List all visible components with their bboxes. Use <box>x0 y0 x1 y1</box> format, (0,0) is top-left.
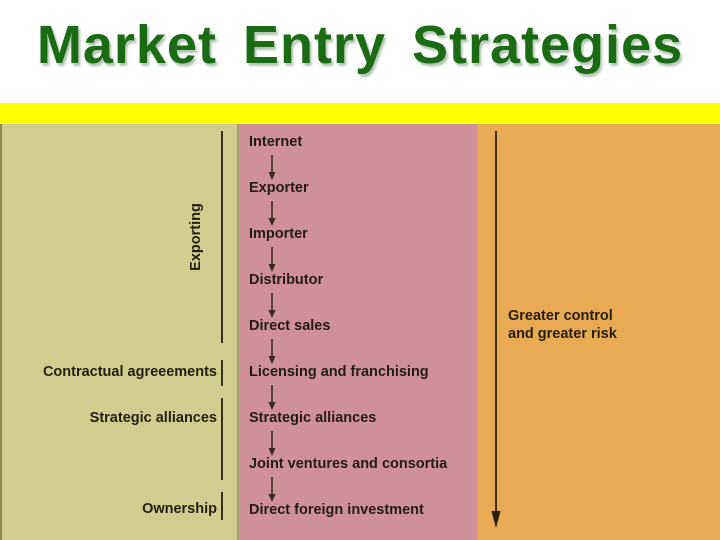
bracket-strategic-alliances <box>221 398 223 480</box>
categories-panel <box>0 124 239 540</box>
bracket-exporting <box>221 131 223 343</box>
page-title: Market Entry Strategies <box>0 14 720 76</box>
flow-arrow-down-icon <box>265 339 279 365</box>
flow-arrow-down-icon <box>265 477 279 503</box>
slide-canvas: Market Entry Strategies Exporting Contra… <box>0 0 720 540</box>
entry-mode-item: Joint ventures and consortia <box>249 456 447 472</box>
entry-mode-item: Distributor <box>249 272 323 288</box>
category-label-ownership: Ownership <box>142 501 217 517</box>
flow-arrow-down-icon <box>265 155 279 181</box>
bracket-ownership <box>221 492 223 520</box>
flow-arrow-down-icon <box>265 385 279 411</box>
title-area: Market Entry Strategies <box>0 0 720 103</box>
entry-mode-item: Direct sales <box>249 318 330 334</box>
entry-mode-item: Direct foreign investment <box>249 502 424 518</box>
category-label-strategic-alliances: Strategic alliances <box>90 410 217 426</box>
flow-arrow-down-icon <box>265 201 279 227</box>
entry-mode-item: Exporter <box>249 180 309 196</box>
bracket-contractual-agreements <box>221 360 223 386</box>
entry-mode-item: Importer <box>249 226 308 242</box>
category-label-contractual-agreements: Contractual agreeements <box>43 364 217 380</box>
yellow-divider-bar <box>0 103 720 123</box>
flow-arrow-down-icon <box>265 247 279 273</box>
category-label-exporting: Exporting <box>188 203 204 271</box>
flow-arrow-down-icon <box>265 293 279 319</box>
entry-mode-item: Licensing and franchising <box>249 364 429 380</box>
entry-mode-item: Strategic alliances <box>249 410 376 426</box>
entry-mode-item: Internet <box>249 134 302 150</box>
control-risk-annotation: Greater control and greater risk <box>508 307 617 343</box>
increasing-control-arrow-icon <box>489 131 503 529</box>
flow-arrow-down-icon <box>265 431 279 457</box>
